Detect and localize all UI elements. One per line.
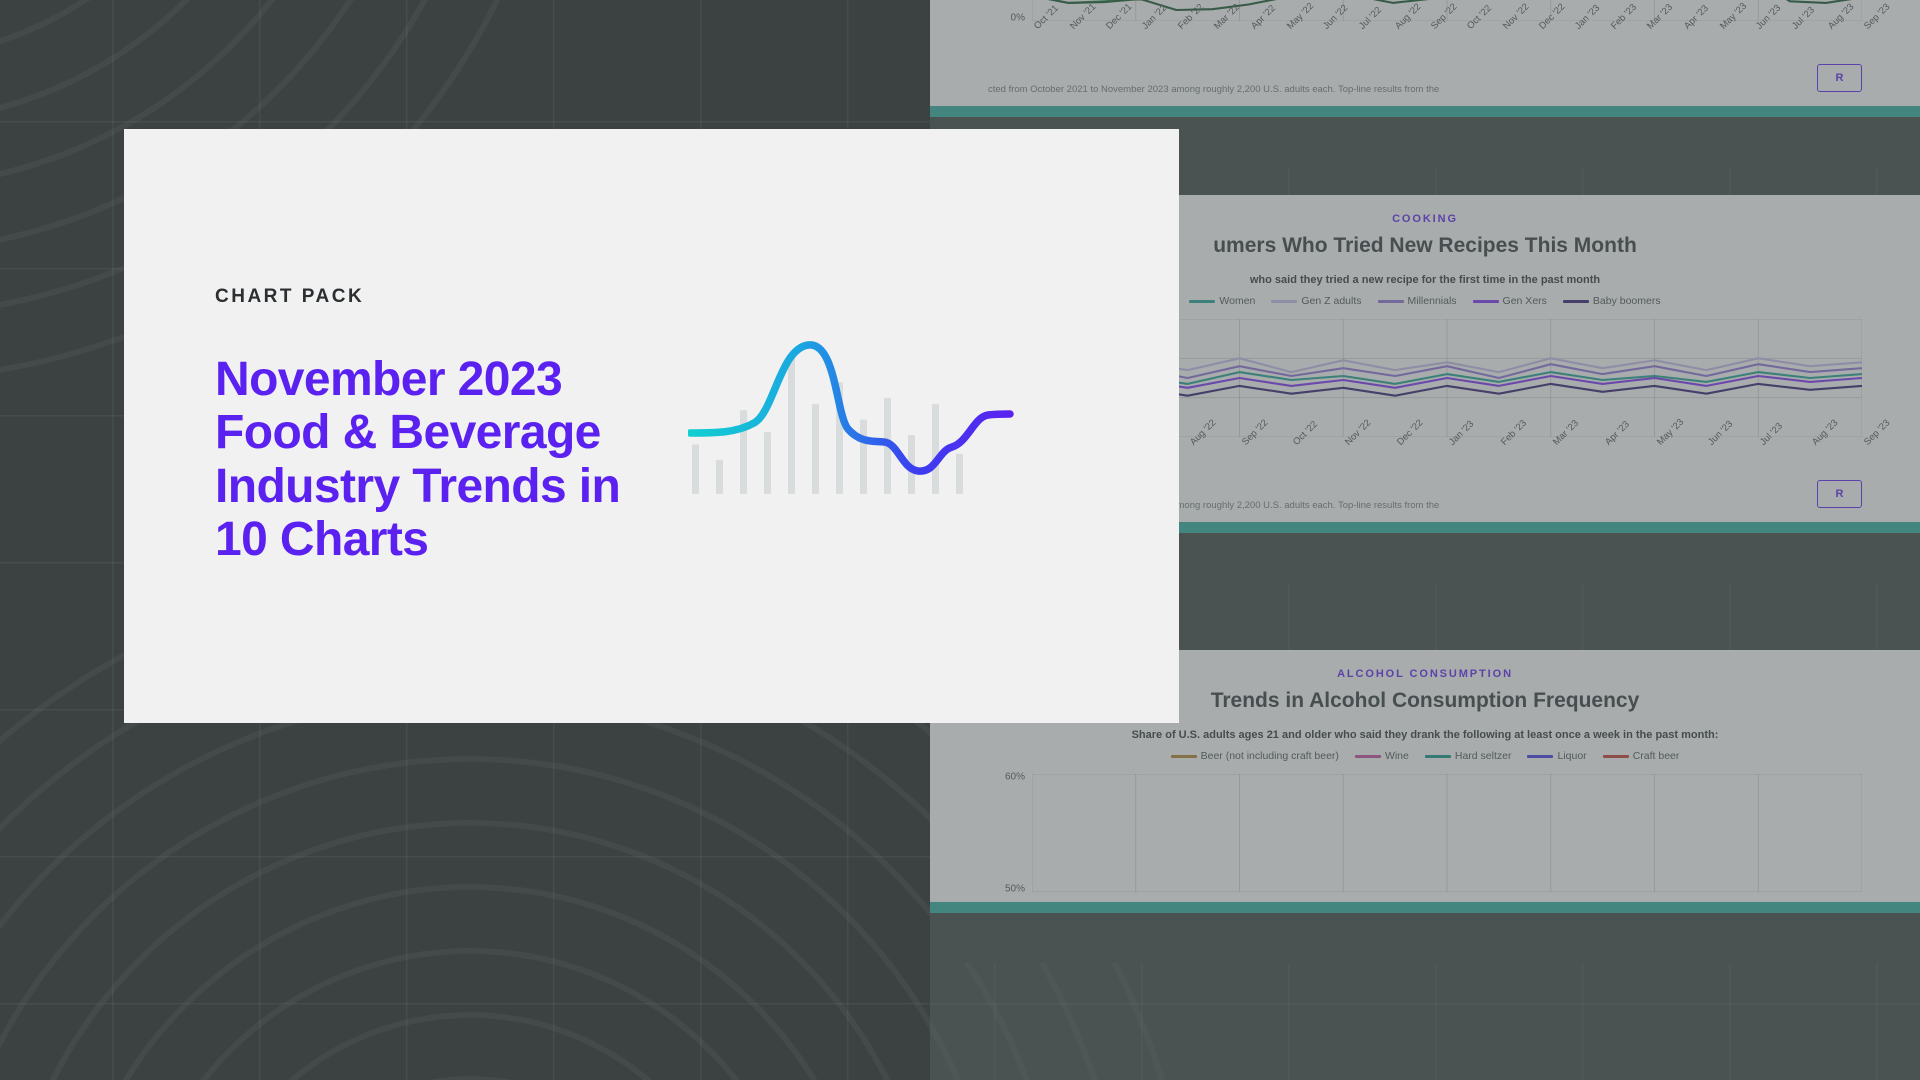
title-line-1: November 2023 bbox=[215, 353, 684, 406]
legend-item: Wine bbox=[1355, 750, 1409, 762]
read-more-button[interactable]: R bbox=[1817, 480, 1862, 508]
legend-label: Wine bbox=[1385, 750, 1409, 762]
legend-swatch bbox=[1425, 755, 1451, 758]
chart-card-body: 30%20%10%0%Oct '21Nov '21Dec '21Jan '22F… bbox=[930, 0, 1920, 106]
legend-swatch bbox=[1171, 755, 1197, 758]
legend-swatch bbox=[1355, 755, 1381, 758]
x-axis-tick-label: Sep '23 bbox=[1862, 1, 1892, 31]
chart-card-note: cted from October 2021 to November 2023 … bbox=[988, 83, 1708, 96]
hero-chart-graphic bbox=[688, 311, 1018, 541]
legend-item: Liquor bbox=[1527, 750, 1586, 762]
legend-label: Baby boomers bbox=[1593, 295, 1661, 307]
legend-item: Craft beer bbox=[1603, 750, 1680, 762]
hero-card: CHART PACK November 2023 Food & Beverage… bbox=[124, 129, 1179, 723]
legend-item: Gen Z adults bbox=[1271, 295, 1361, 307]
legend-swatch bbox=[1473, 300, 1499, 303]
read-more-button[interactable]: R bbox=[1817, 64, 1862, 92]
legend-item: Women bbox=[1189, 295, 1255, 307]
legend-swatch bbox=[1189, 300, 1215, 303]
title-line-2: Food & Beverage bbox=[215, 406, 684, 459]
legend-label: Beer (not including craft beer) bbox=[1201, 750, 1339, 762]
legend-label: Gen Xers bbox=[1503, 295, 1547, 307]
x-axis: Oct '21Nov '21Dec '21Jan '22Feb '22Mar '… bbox=[1032, 21, 1862, 67]
legend-label: Gen Z adults bbox=[1301, 295, 1361, 307]
legend-item: Beer (not including craft beer) bbox=[1171, 750, 1339, 762]
legend-label: Hard seltzer bbox=[1455, 750, 1512, 762]
y-axis-tick-label: 0% bbox=[1011, 13, 1025, 24]
chart-plot-area: 60%50% bbox=[988, 774, 1862, 892]
card-accent-bar bbox=[930, 902, 1920, 913]
chart-card-subtitle: Share of U.S. adults ages 21 and older w… bbox=[988, 729, 1862, 741]
legend-label: Liquor bbox=[1557, 750, 1586, 762]
title-line-3: Industry Trends in bbox=[215, 460, 684, 513]
y-axis-tick-label: 60% bbox=[1005, 772, 1025, 783]
page-title: November 2023 Food & Beverage Industry T… bbox=[215, 353, 684, 566]
legend-swatch bbox=[1271, 300, 1297, 303]
legend-swatch bbox=[1603, 755, 1629, 758]
legend-swatch bbox=[1527, 755, 1553, 758]
legend-label: Women bbox=[1219, 295, 1255, 307]
chart-legend: Beer (not including craft beer)WineHard … bbox=[988, 750, 1862, 762]
legend-item: Baby boomers bbox=[1563, 295, 1661, 307]
legend-swatch bbox=[1563, 300, 1589, 303]
hero-eyebrow: CHART PACK bbox=[215, 286, 684, 308]
chart-svg bbox=[1032, 774, 1862, 892]
y-axis: 30%20%10%0% bbox=[988, 0, 1030, 21]
legend-item: Hard seltzer bbox=[1425, 750, 1512, 762]
legend-label: Millennials bbox=[1408, 295, 1457, 307]
hero-artwork bbox=[688, 311, 1018, 541]
legend-label: Craft beer bbox=[1633, 750, 1680, 762]
card-dark-spacer bbox=[930, 913, 1920, 963]
legend-item: Gen Xers bbox=[1473, 295, 1547, 307]
y-axis: 60%50% bbox=[988, 774, 1030, 892]
legend-swatch bbox=[1378, 300, 1404, 303]
title-line-4: 10 Charts bbox=[215, 513, 684, 566]
legend-item: Millennials bbox=[1378, 295, 1457, 307]
hero-text-block: CHART PACK November 2023 Food & Beverage… bbox=[124, 286, 684, 566]
card-accent-bar bbox=[930, 106, 1920, 117]
x-axis-tick-label: Sep '23 bbox=[1862, 417, 1892, 447]
y-axis-tick-label: 50% bbox=[1005, 884, 1025, 895]
